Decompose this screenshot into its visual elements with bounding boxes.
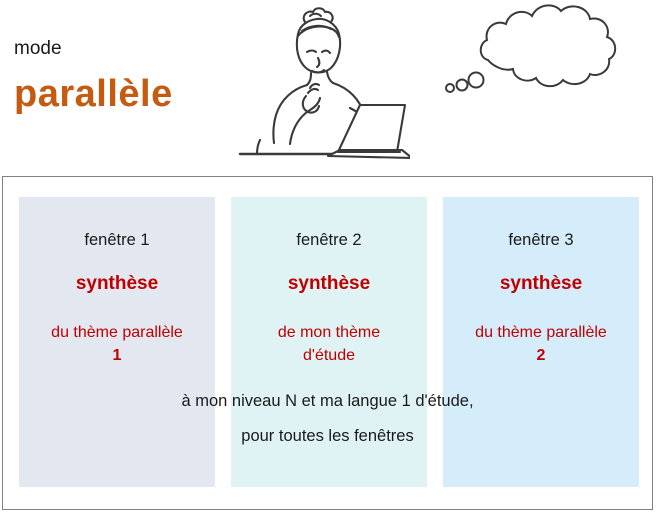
window-column-2-title: fenêtre 2 <box>231 231 427 250</box>
header-area: mode parallèle <box>0 0 657 175</box>
panel-footer-line-2: pour toutes les fenêtres <box>3 427 652 446</box>
window-column-3-title: fenêtre 3 <box>443 231 639 250</box>
window-column-3-subtitle-line2: 2 <box>537 347 546 364</box>
person-thinking-at-laptop-illustration <box>210 4 410 174</box>
page-title: parallèle <box>14 73 173 116</box>
window-column-2-subtitle-line1: de mon thème <box>278 324 380 341</box>
window-column-1-emphasis: synthèse <box>19 273 215 295</box>
window-column-1-subtitle-line2: 1 <box>113 347 122 364</box>
window-column-2-subtitle: de mon thème d'étude <box>235 322 423 367</box>
window-column-1-subtitle: du thème parallèle 1 <box>23 322 211 367</box>
window-column-3-emphasis: synthèse <box>443 273 639 295</box>
window-column-3-subtitle-line1: du thème parallèle <box>475 324 607 341</box>
diagram-root: mode parallèle <box>0 0 657 515</box>
window-column-1-subtitle-line1: du thème parallèle <box>51 324 183 341</box>
window-column-2-subtitle-line2: d'étude <box>303 347 355 364</box>
mode-label: mode <box>14 38 62 60</box>
window-column-3-subtitle: du thème parallèle 2 <box>447 322 635 367</box>
panel-footer-line-1: à mon niveau N et ma langue 1 d'étude, <box>3 392 652 411</box>
thought-bubble: j'apprends mieux par comparaison <box>440 2 655 137</box>
window-column-2-emphasis: synthèse <box>231 273 427 295</box>
parallel-mode-panel: fenêtre 1 synthèse du thème parallèle 1 … <box>2 176 653 510</box>
window-column-1-title: fenêtre 1 <box>19 231 215 250</box>
